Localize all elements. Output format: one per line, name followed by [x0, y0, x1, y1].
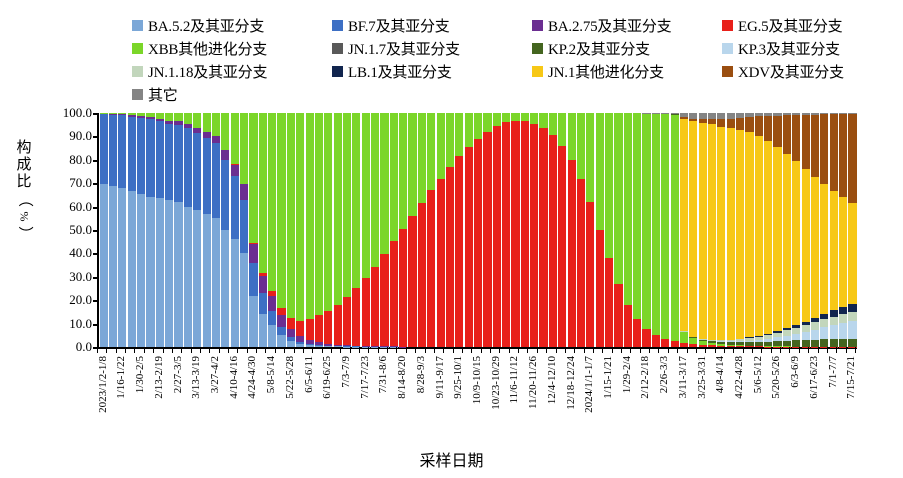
bar-column[interactable] [193, 113, 201, 347]
x-axis-tick-mark [331, 347, 332, 353]
y-axis-tick-mark [93, 160, 99, 162]
bar-column[interactable] [371, 113, 379, 347]
bar-column[interactable] [455, 113, 463, 347]
bar-segment [773, 116, 781, 147]
x-axis-tick-mark [144, 347, 145, 353]
bar-column[interactable] [614, 113, 622, 347]
bar-segment [483, 132, 491, 347]
y-axis-tick-label: 100.0 [63, 105, 92, 121]
bar-segment [362, 113, 370, 278]
bar-segment [848, 321, 856, 339]
bar-segment [352, 113, 360, 288]
bar-segment [680, 332, 688, 343]
bar-column[interactable] [306, 113, 314, 347]
bar-segment [802, 115, 810, 169]
bar-segment [577, 179, 585, 347]
bar-column[interactable] [137, 113, 145, 347]
bar-column[interactable] [511, 113, 519, 347]
bar-column[interactable] [633, 113, 641, 347]
bar-segment [240, 200, 248, 254]
x-axis-tick-mark [846, 347, 847, 353]
bar-segment [146, 119, 154, 197]
bar-segment [193, 133, 201, 210]
y-axis-tick-label: 90.0 [69, 128, 92, 144]
bar-segment [811, 115, 819, 177]
y-axis-tick-mark [93, 136, 99, 138]
x-axis-title: 采样日期 [0, 447, 903, 471]
legend-swatch-icon [532, 66, 543, 77]
bar-column[interactable] [109, 113, 117, 347]
legend-item[interactable]: BA.5.2及其亚分支 [132, 14, 332, 37]
bar-column[interactable] [352, 113, 360, 347]
bar-segment [736, 130, 744, 339]
x-axis-tick-mark [668, 347, 669, 353]
bar-segment [493, 113, 501, 126]
y-axis-tick-label: 60.0 [69, 199, 92, 215]
bar-segment [259, 314, 267, 347]
bar-column[interactable] [802, 113, 810, 347]
legend-item[interactable]: BF.7及其亚分支 [332, 14, 532, 37]
bar-segment [848, 114, 856, 203]
bar-segment [343, 297, 351, 345]
x-axis-tick-mark [247, 347, 248, 353]
bar-segment [483, 113, 491, 131]
bar-segment [465, 113, 473, 147]
bar-segment [811, 322, 819, 329]
bar-column[interactable] [315, 113, 323, 347]
legend-swatch-icon [132, 66, 143, 77]
bar-segment [811, 177, 819, 318]
legend-item[interactable]: JN.1.18及其亚分支 [132, 60, 332, 83]
bar-column[interactable] [343, 113, 351, 347]
bar-column[interactable] [324, 113, 332, 347]
x-axis-tick-mark [181, 347, 182, 353]
bar-segment [221, 160, 229, 230]
bar-segment [156, 121, 164, 198]
legend-item[interactable]: EG.5及其亚分支 [722, 14, 892, 37]
bar-segment [380, 113, 388, 254]
x-axis-tick-mark [565, 347, 566, 353]
bar-column[interactable] [156, 113, 164, 347]
x-axis-tick-mark [275, 347, 276, 353]
bar-segment [652, 335, 660, 347]
x-axis-tick-label: 4/22-4/28 [733, 356, 745, 399]
bar-column[interactable] [661, 113, 669, 347]
bar-column[interactable] [699, 113, 707, 347]
bar-column[interactable] [390, 113, 398, 347]
bar-segment [605, 113, 613, 258]
bar-column[interactable] [558, 113, 566, 347]
bar-column[interactable] [221, 113, 229, 347]
bar-column[interactable] [792, 113, 800, 347]
bar-column[interactable] [773, 113, 781, 347]
x-axis-tick-mark [490, 347, 491, 353]
x-axis-tick-label: 11/6-11/12 [508, 356, 520, 403]
x-axis-tick-label: 7/3-7/9 [340, 356, 352, 388]
bar-segment [268, 325, 276, 347]
bar-segment [408, 216, 416, 347]
bar-column[interactable] [811, 113, 819, 347]
y-axis-tick-mark [93, 183, 99, 185]
bar-segment [259, 293, 267, 314]
legend-label: XBB其他进化分支 [148, 38, 267, 59]
bar-column[interactable] [755, 113, 763, 347]
x-axis-tick-label: 7/17-7/23 [359, 356, 371, 399]
bar-segment [231, 239, 239, 347]
bar-column[interactable] [474, 113, 482, 347]
bar-segment [390, 113, 398, 241]
bar-column[interactable] [362, 113, 370, 347]
bar-column[interactable] [671, 113, 679, 347]
bar-segment [839, 323, 847, 339]
bar-column[interactable] [605, 113, 613, 347]
x-axis-tick-mark [509, 347, 510, 353]
bar-column[interactable] [268, 113, 276, 347]
bar-segment [277, 308, 285, 315]
legend-swatch-icon [722, 43, 733, 54]
x-axis-tick-label: 4/24-4/30 [246, 356, 258, 399]
bar-segment [184, 113, 192, 124]
bar-segment [614, 113, 622, 283]
bar-segment [661, 339, 669, 347]
bar-column[interactable] [736, 113, 744, 347]
x-axis-tick-mark [789, 347, 790, 353]
bar-segment [633, 113, 641, 319]
bar-segment [642, 114, 650, 330]
y-axis-tick-mark [93, 277, 99, 279]
bar-segment [792, 161, 800, 325]
legend-item[interactable]: XDV及其亚分支 [722, 60, 892, 83]
y-axis-tick-label: 10.0 [69, 316, 92, 332]
x-axis-tick-label: 1/30-2/5 [134, 356, 146, 393]
bar-segment [193, 210, 201, 347]
x-axis-tick-mark [471, 347, 472, 353]
bar-segment [820, 339, 828, 346]
bar-column[interactable] [408, 113, 416, 347]
bar-segment [474, 139, 482, 347]
legend-label: KP.2及其亚分支 [548, 38, 650, 59]
bar-segment [699, 123, 707, 339]
bar-segment [371, 267, 379, 347]
x-axis-tick-mark [630, 347, 631, 353]
bar-segment [408, 113, 416, 216]
bar-segment [324, 113, 332, 311]
bar-segment [212, 113, 220, 136]
bar-column[interactable] [764, 113, 772, 347]
bar-column[interactable] [287, 113, 295, 347]
legend-row: XBB其他进化分支JN.1.7及其亚分支KP.2及其亚分支KP.3及其亚分支 [132, 37, 892, 60]
bar-column[interactable] [203, 113, 211, 347]
x-axis-tick-mark [406, 347, 407, 353]
bar-segment [362, 278, 370, 346]
bar-segment [755, 136, 763, 336]
y-axis-tick-label: 50.0 [69, 222, 92, 238]
chart-legend: BA.5.2及其亚分支BF.7及其亚分支BA.2.75及其亚分支EG.5及其亚分… [132, 14, 892, 106]
x-axis-tick-label: 3/27-4/2 [209, 356, 221, 393]
bar-column[interactable] [418, 113, 426, 347]
bar-segment [792, 115, 800, 161]
bar-column[interactable] [521, 113, 529, 347]
bar-column[interactable] [334, 113, 342, 347]
bar-segment [848, 339, 856, 347]
bar-column[interactable] [146, 113, 154, 347]
bar-segment [118, 115, 126, 188]
legend-item[interactable]: JN.1其他进化分支 [532, 60, 722, 83]
bar-column[interactable] [783, 113, 791, 347]
bar-column[interactable] [259, 113, 267, 347]
bar-column[interactable] [549, 113, 557, 347]
bar-segment [802, 325, 810, 332]
x-axis-tick-mark [799, 347, 800, 353]
x-axis-tick-mark [715, 347, 716, 353]
bar-segment [184, 207, 192, 347]
bar-column[interactable] [174, 113, 182, 347]
bar-segment [493, 126, 501, 347]
x-axis-tick-label: 9/11-9/17 [434, 356, 446, 398]
bar-column[interactable] [596, 113, 604, 347]
bar-segment [511, 113, 519, 120]
bar-column[interactable] [839, 113, 847, 347]
bar-segment [811, 330, 819, 340]
x-axis-tick-mark [312, 347, 313, 353]
bar-column[interactable] [717, 113, 725, 347]
bar-segment [109, 115, 117, 186]
x-axis-tick-mark [256, 347, 257, 353]
bar-column[interactable] [680, 113, 688, 347]
y-axis-title-char: ） [16, 224, 33, 244]
bar-segment [530, 113, 538, 123]
bar-column[interactable] [652, 113, 660, 347]
bar-column[interactable] [493, 113, 501, 347]
bar-column[interactable] [502, 113, 510, 347]
stacked-bar-series [99, 113, 857, 347]
bar-column[interactable] [586, 113, 594, 347]
legend-label: BA.5.2及其亚分支 [148, 15, 264, 36]
x-axis-tick-mark [378, 347, 379, 353]
bar-segment [371, 113, 379, 267]
bar-column[interactable] [689, 113, 697, 347]
bar-segment [174, 202, 182, 347]
bar-segment [165, 113, 173, 121]
x-axis-tick-mark [771, 347, 772, 353]
bar-column[interactable] [399, 113, 407, 347]
bar-segment [418, 203, 426, 347]
x-axis-tick-label: 8/14-8/20 [396, 356, 408, 399]
bar-column[interactable] [100, 113, 108, 347]
bar-segment [352, 288, 360, 345]
bar-segment [830, 114, 838, 191]
bar-column[interactable] [128, 113, 136, 347]
bar-column[interactable] [465, 113, 473, 347]
variant-composition-chart: BA.5.2及其亚分支BF.7及其亚分支BA.2.75及其亚分支EG.5及其亚分… [0, 0, 903, 478]
legend-swatch-icon [132, 43, 143, 54]
legend-item[interactable]: 其它 [132, 83, 332, 106]
x-axis-tick-label: 1/15-1/21 [602, 356, 614, 399]
bar-segment [334, 113, 342, 305]
x-axis-tick-mark [499, 347, 500, 353]
legend-item[interactable]: BA.2.75及其亚分支 [532, 14, 722, 37]
x-axis-tick-mark [237, 347, 238, 353]
legend-swatch-icon [532, 20, 543, 31]
bar-segment [287, 329, 295, 337]
legend-label: JN.1.18及其亚分支 [148, 61, 267, 82]
x-axis-tick-label: 5/6-5/12 [752, 356, 764, 393]
x-axis-tick-mark [462, 347, 463, 353]
bar-column[interactable] [642, 113, 650, 347]
bar-column[interactable] [708, 113, 716, 347]
bar-column[interactable] [277, 113, 285, 347]
bar-segment [848, 312, 856, 321]
x-axis-tick-label: 9/25-10/1 [452, 356, 464, 399]
bar-column[interactable] [727, 113, 735, 347]
legend-item[interactable]: XBB其他进化分支 [132, 37, 332, 60]
bar-column[interactable] [296, 113, 304, 347]
bar-column[interactable] [483, 113, 491, 347]
bar-column[interactable] [530, 113, 538, 347]
x-axis-tick-mark [724, 347, 725, 353]
x-axis-tick-mark [574, 347, 575, 353]
bar-segment [736, 118, 744, 130]
bar-segment [642, 329, 650, 347]
bar-segment [306, 319, 314, 340]
bar-segment [268, 113, 276, 291]
x-axis-tick-mark [556, 347, 557, 353]
bar-segment [221, 113, 229, 150]
x-axis-tick-mark [677, 347, 678, 353]
x-axis-tick-label: 4/8-4/14 [714, 356, 726, 393]
bar-segment [128, 117, 136, 192]
x-axis-tick-mark [836, 347, 837, 353]
bar-segment [717, 119, 725, 127]
legend-label: KP.3及其亚分支 [738, 38, 840, 59]
bar-segment [764, 141, 772, 334]
bar-segment [727, 119, 735, 129]
bar-segment [848, 304, 856, 312]
bar-column[interactable] [240, 113, 248, 347]
x-axis-tick-label: 3/11-3/17 [677, 356, 689, 398]
x-axis-tick-mark [294, 347, 295, 353]
bar-column[interactable] [437, 113, 445, 347]
bar-segment [399, 229, 407, 347]
bar-segment [586, 113, 594, 202]
bar-segment [212, 218, 220, 347]
bar-column[interactable] [184, 113, 192, 347]
x-axis-tick-mark [191, 347, 192, 353]
x-axis-tick-labels: 2023/1/2-1/81/16-1/221/30-2/52/13-2/192/… [97, 356, 855, 441]
bar-segment [474, 113, 482, 139]
y-axis-tick-label: 40.0 [69, 245, 92, 261]
bar-column[interactable] [577, 113, 585, 347]
x-axis-tick-mark [733, 347, 734, 353]
bar-column[interactable] [568, 113, 576, 347]
x-axis-tick-mark [593, 347, 594, 353]
bar-segment [820, 114, 828, 184]
bar-segment [184, 128, 192, 206]
bar-segment [165, 200, 173, 347]
bar-segment [277, 113, 285, 308]
x-axis-tick-label: 6/19-6/25 [321, 356, 333, 399]
bar-segment [249, 263, 257, 296]
bar-column[interactable] [539, 113, 547, 347]
bar-segment [511, 121, 519, 348]
bar-segment [427, 190, 435, 347]
bar-segment [568, 113, 576, 160]
x-axis-tick-mark [696, 347, 697, 353]
bar-segment [624, 305, 632, 347]
bar-column[interactable] [118, 113, 126, 347]
x-axis-tick-label: 1/29-2/4 [621, 356, 633, 393]
bar-segment [783, 154, 791, 328]
bar-segment [568, 160, 576, 347]
bar-segment [633, 319, 641, 347]
bar-column[interactable] [745, 113, 753, 347]
bar-segment [830, 325, 838, 339]
y-axis-title-char: 成 [14, 157, 34, 174]
bar-segment [811, 340, 819, 347]
bar-segment [839, 314, 847, 323]
bar-segment [549, 113, 557, 135]
bar-segment [287, 113, 295, 318]
bar-column[interactable] [231, 113, 239, 347]
bar-column[interactable] [848, 113, 856, 347]
x-axis-tick-mark [780, 347, 781, 353]
legend-item[interactable]: LB.1及其亚分支 [332, 60, 532, 83]
bar-segment [231, 113, 239, 164]
bar-segment [240, 253, 248, 347]
bar-segment [539, 128, 547, 347]
bar-column[interactable] [624, 113, 632, 347]
x-axis-tick-mark [396, 347, 397, 353]
x-axis-tick-mark [387, 347, 388, 353]
x-axis-tick-mark [322, 347, 323, 353]
x-axis-tick-mark [743, 347, 744, 353]
bar-segment [764, 116, 772, 141]
bar-segment [577, 113, 585, 178]
x-axis-tick-mark [612, 347, 613, 353]
x-axis-tick-label: 4/10-4/16 [228, 356, 240, 399]
legend-swatch-icon [332, 66, 343, 77]
bar-segment [830, 317, 838, 325]
bar-segment [830, 339, 838, 347]
bar-column[interactable] [446, 113, 454, 347]
x-axis-tick-label: 5/8-5/14 [265, 356, 277, 393]
bar-column[interactable] [830, 113, 838, 347]
legend-item[interactable]: JN.1.7及其亚分支 [332, 37, 532, 60]
y-axis-tick-mark [93, 300, 99, 302]
x-axis-tick-label: 2/12-2/18 [639, 356, 651, 399]
bar-segment [156, 198, 164, 347]
bar-segment [455, 113, 463, 156]
bar-segment [174, 113, 182, 121]
bar-column[interactable] [212, 113, 220, 347]
bar-segment [109, 186, 117, 347]
bar-column[interactable] [165, 113, 173, 347]
bar-segment [689, 121, 697, 336]
bar-column[interactable] [427, 113, 435, 347]
legend-item[interactable]: KP.3及其亚分支 [722, 37, 892, 60]
x-axis-tick-mark [163, 347, 164, 353]
bar-column[interactable] [820, 113, 828, 347]
x-axis-tick-mark [425, 347, 426, 353]
x-axis-tick-mark [546, 347, 547, 353]
bar-segment [596, 113, 604, 230]
legend-item[interactable]: KP.2及其亚分支 [532, 37, 722, 60]
x-axis-tick-mark [200, 347, 201, 353]
bar-column[interactable] [249, 113, 257, 347]
x-axis-tick-mark [621, 347, 622, 353]
bar-column[interactable] [380, 113, 388, 347]
bar-segment [465, 147, 473, 347]
